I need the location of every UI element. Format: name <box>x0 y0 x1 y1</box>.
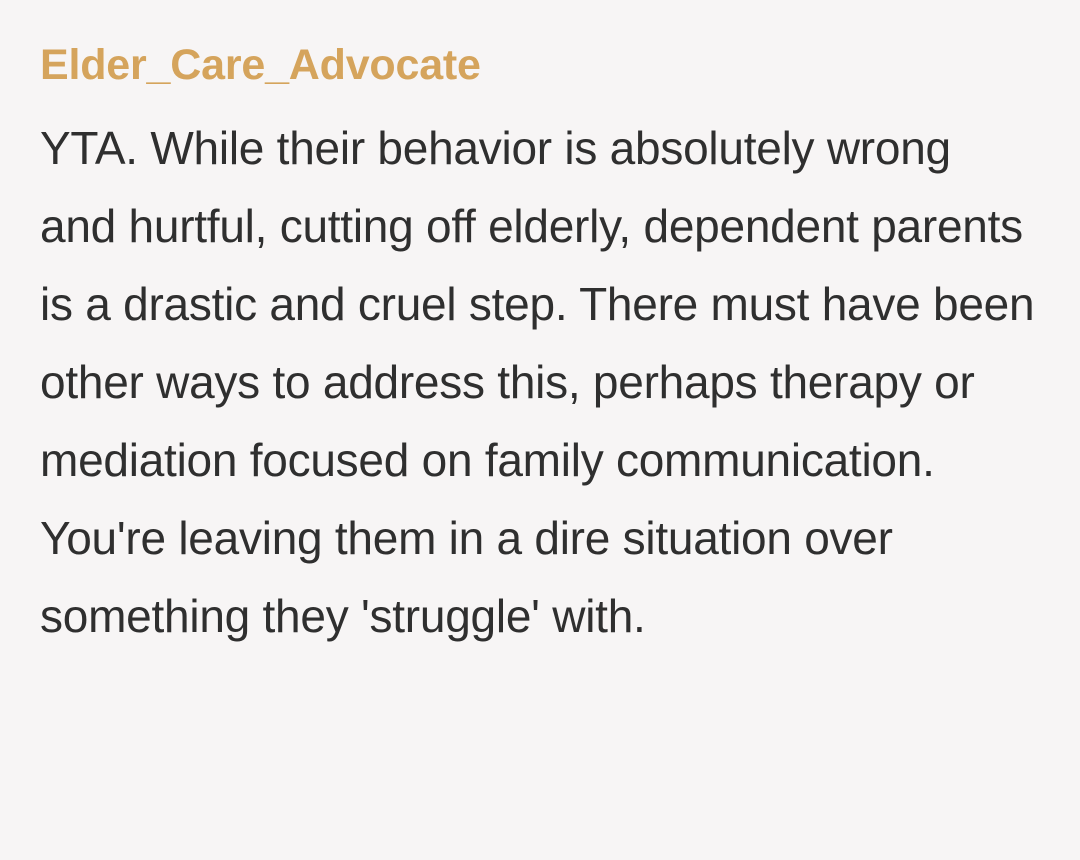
comment-body-text: YTA. While their behavior is absolutely … <box>40 109 1038 655</box>
comment-author-name[interactable]: Elder_Care_Advocate <box>40 40 1038 91</box>
comment-card: Elder_Care_Advocate YTA. While their beh… <box>0 0 1080 860</box>
